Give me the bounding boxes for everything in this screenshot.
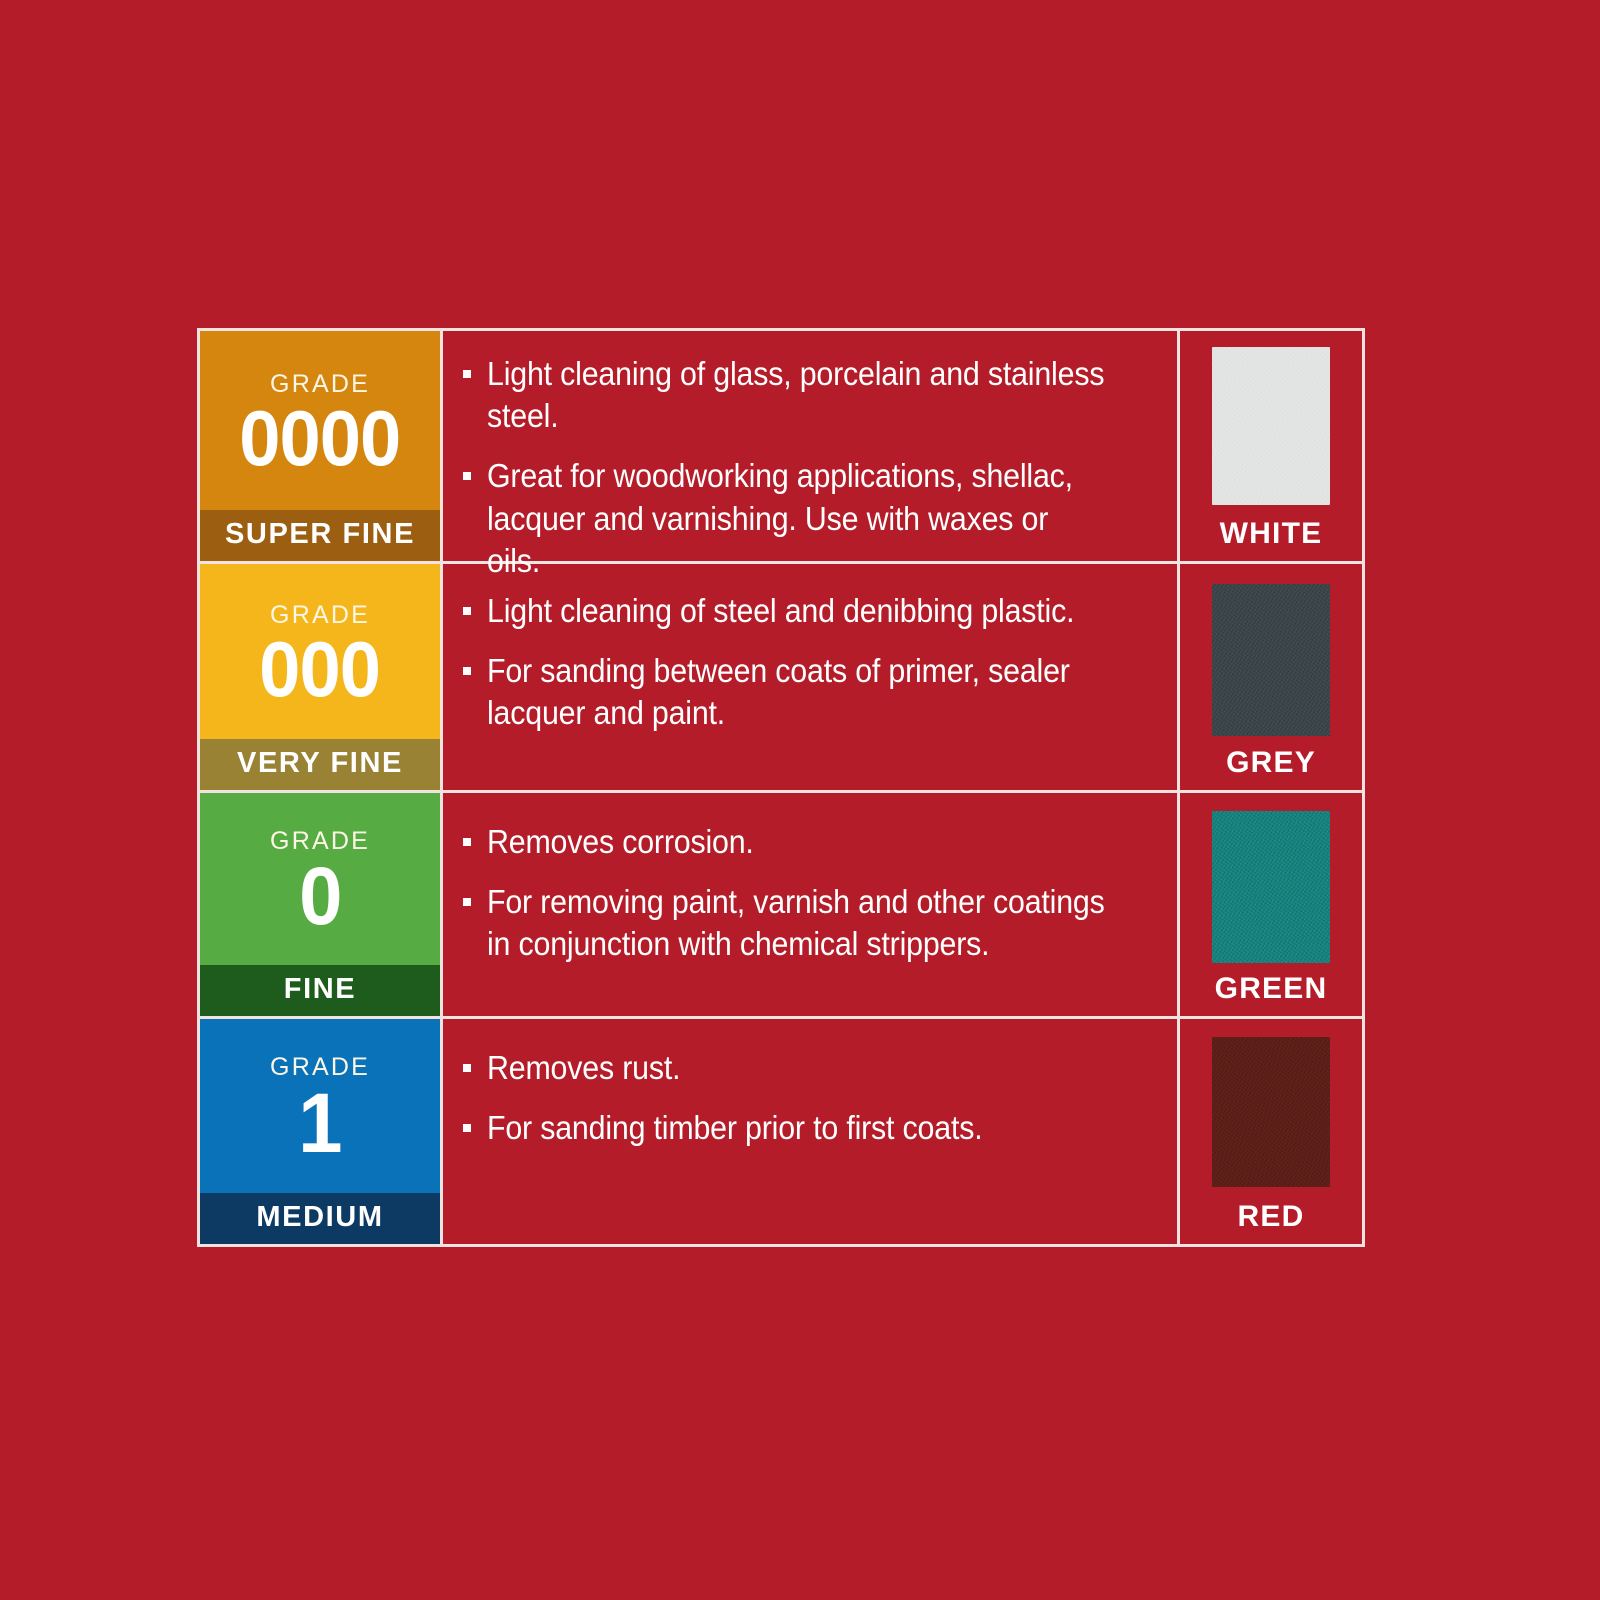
bullet-text: Light cleaning of glass, porcelain and s… — [487, 353, 1105, 437]
grade-number: 000 — [260, 632, 381, 706]
square-bullet-icon — [463, 1064, 471, 1072]
bullet-item: Light cleaning of glass, porcelain and s… — [463, 353, 1159, 437]
grade-main: GRADE000 — [200, 564, 440, 739]
square-bullet-icon — [463, 667, 471, 675]
table-row: GRADE000VERY FINELight cleaning of steel… — [200, 564, 1362, 793]
bullet-item: Light cleaning of steel and denibbing pl… — [463, 590, 1159, 632]
bullet-item: Removes corrosion. — [463, 821, 1159, 863]
swatch-cell: GREEN — [1180, 793, 1362, 1016]
description-cell: Light cleaning of glass, porcelain and s… — [443, 331, 1180, 561]
coarseness-band: SUPER FINE — [200, 510, 440, 561]
grade-number: 0000 — [239, 401, 400, 475]
coarseness-band: VERY FINE — [200, 739, 440, 790]
description-cell: Removes corrosion.For removing paint, va… — [443, 793, 1180, 1016]
table-row: GRADE1MEDIUMRemoves rust.For sanding tim… — [200, 1019, 1362, 1244]
bullet-item: For sanding timber prior to first coats. — [463, 1107, 1159, 1149]
pad-colour-swatch-grey — [1212, 584, 1330, 736]
square-bullet-icon — [463, 472, 471, 480]
swatch-cell: GREY — [1180, 564, 1362, 790]
page-root: GRADE0000SUPER FINELight cleaning of gla… — [0, 0, 1600, 1600]
table-row: GRADE0FINERemoves corrosion.For removing… — [200, 793, 1362, 1019]
pad-colour-swatch-red — [1212, 1037, 1330, 1187]
grade-main: GRADE0000 — [200, 331, 440, 510]
bullet-item: Removes rust. — [463, 1047, 1159, 1089]
steel-wool-grade-table: GRADE0000SUPER FINELight cleaning of gla… — [197, 328, 1365, 1247]
description-cell: Light cleaning of steel and denibbing pl… — [443, 564, 1180, 790]
pad-colour-swatch-green — [1212, 811, 1330, 963]
swatch-cell: RED — [1180, 1019, 1362, 1244]
bullet-item: For sanding between coats of primer, sea… — [463, 650, 1159, 734]
coarseness-band: FINE — [200, 965, 440, 1016]
bullet-item: For removing paint, varnish and other co… — [463, 881, 1159, 965]
grade-cell-1[interactable]: GRADE1MEDIUM — [200, 1019, 443, 1244]
grade-number: 0 — [299, 858, 341, 936]
square-bullet-icon — [463, 607, 471, 615]
swatch-label: RED — [1180, 1200, 1362, 1234]
square-bullet-icon — [463, 838, 471, 846]
bullet-text: Removes corrosion. — [487, 821, 1105, 863]
grade-main: GRADE0 — [200, 793, 440, 965]
bullet-text: For sanding timber prior to first coats. — [487, 1107, 1105, 1149]
grade-number: 1 — [298, 1084, 341, 1164]
bullet-text: Removes rust. — [487, 1047, 1105, 1089]
square-bullet-icon — [463, 898, 471, 906]
grade-cell-0000[interactable]: GRADE0000SUPER FINE — [200, 331, 443, 561]
grade-cell-0[interactable]: GRADE0FINE — [200, 793, 443, 1016]
swatch-label: GREEN — [1180, 972, 1362, 1006]
pad-colour-swatch-white — [1212, 347, 1330, 505]
table-row: GRADE0000SUPER FINELight cleaning of gla… — [200, 331, 1362, 564]
square-bullet-icon — [463, 1124, 471, 1132]
swatch-label: GREY — [1180, 746, 1362, 780]
coarseness-band: MEDIUM — [200, 1193, 440, 1244]
swatch-cell: WHITE — [1180, 331, 1362, 561]
bullet-text: Light cleaning of steel and denibbing pl… — [487, 590, 1105, 632]
square-bullet-icon — [463, 370, 471, 378]
grade-main: GRADE1 — [200, 1019, 440, 1193]
description-cell: Removes rust.For sanding timber prior to… — [443, 1019, 1180, 1244]
swatch-label: WHITE — [1180, 517, 1362, 551]
bullet-text: For sanding between coats of primer, sea… — [487, 650, 1105, 734]
grade-cell-000[interactable]: GRADE000VERY FINE — [200, 564, 443, 790]
bullet-text: For removing paint, varnish and other co… — [487, 881, 1105, 965]
